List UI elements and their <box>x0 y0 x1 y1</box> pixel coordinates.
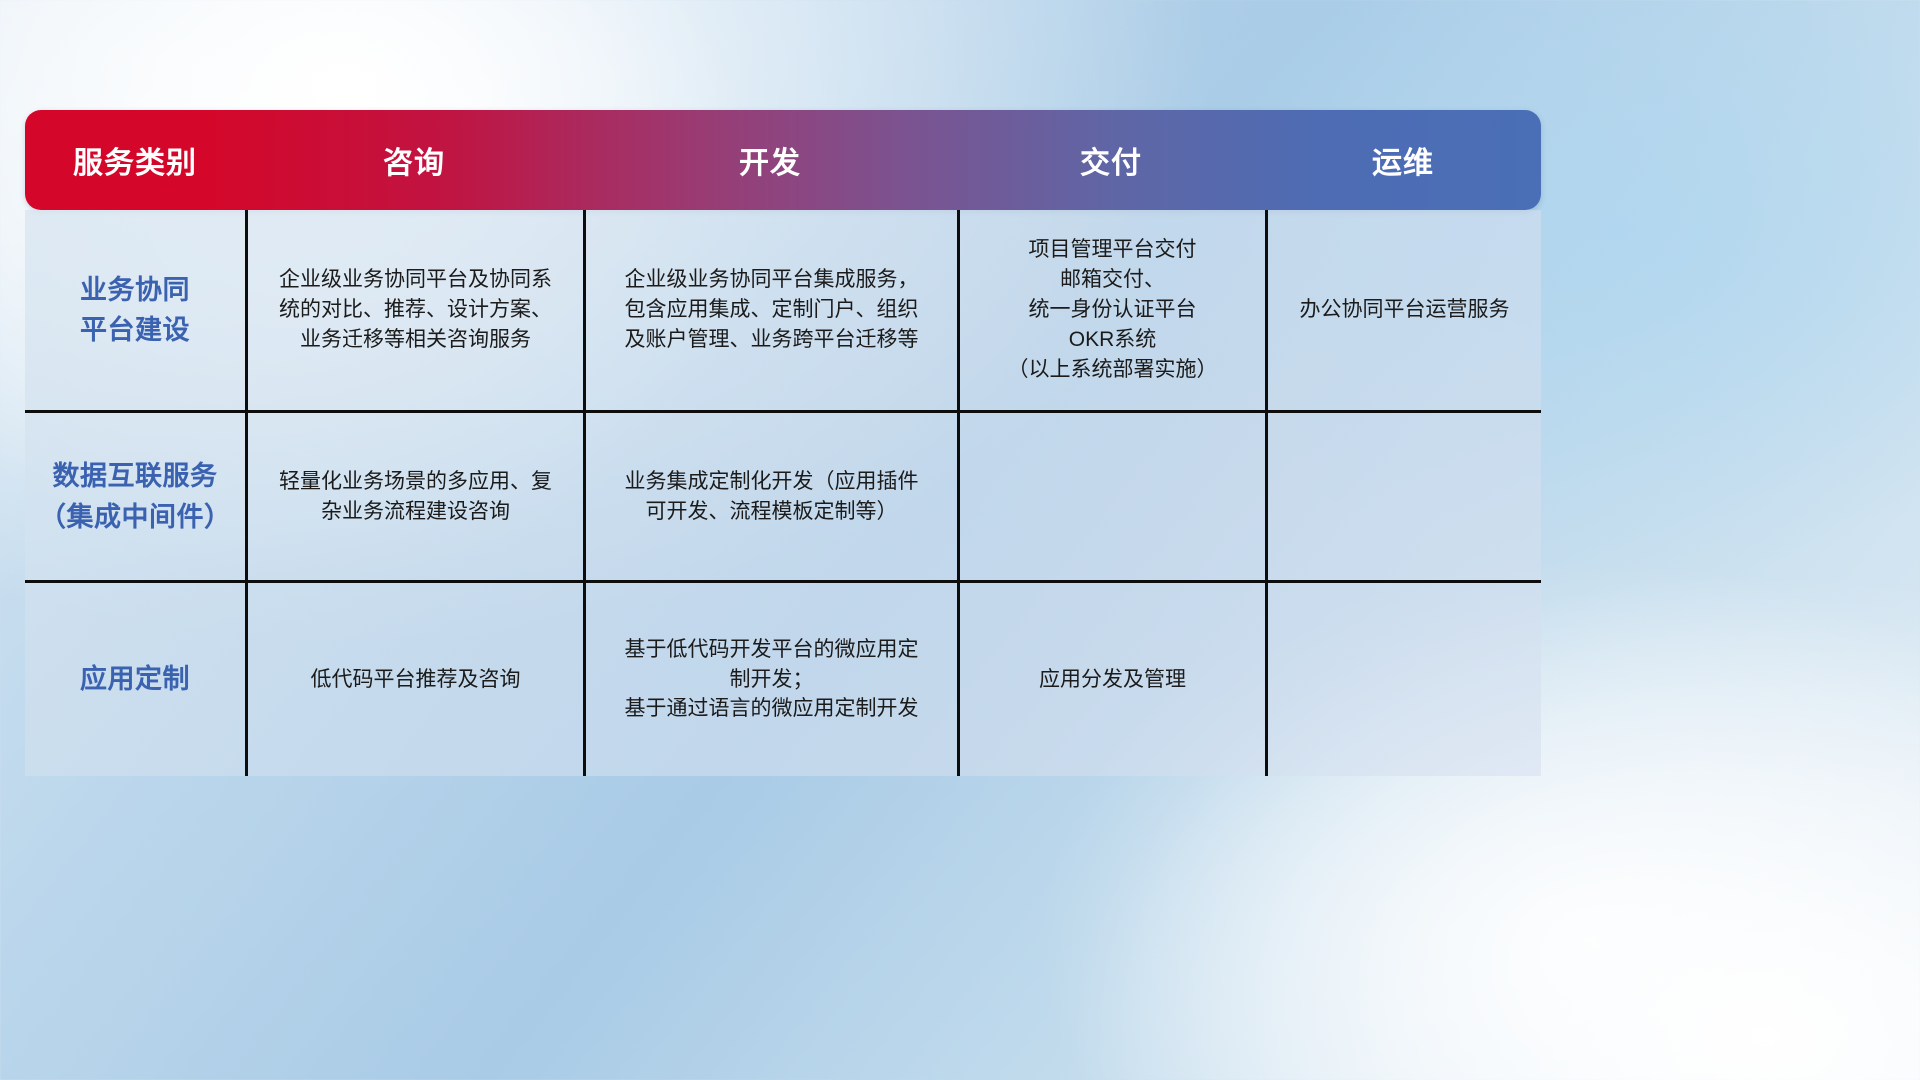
cell-consulting: 低代码平台推荐及咨询 <box>245 583 583 776</box>
cell-operations <box>1265 583 1541 776</box>
cell-development: 企业级业务协同平台集成服务， 包含应用集成、定制门户、组织 及账户管理、业务跨平… <box>583 210 957 410</box>
row-category-label: 数据互联服务 （集成中间件） <box>25 413 245 580</box>
cell-consulting: 企业级业务协同平台及协同系 统的对比、推荐、设计方案、 业务迁移等相关咨询服务 <box>245 210 583 410</box>
cell-consulting: 轻量化业务场景的多应用、复 杂业务流程建设咨询 <box>245 413 583 580</box>
row-category-label: 业务协同 平台建设 <box>25 210 245 410</box>
table-row: 业务协同 平台建设 企业级业务协同平台及协同系 统的对比、推荐、设计方案、 业务… <box>25 210 1541 410</box>
cell-development: 基于低代码开发平台的微应用定 制开发； 基于通过语言的微应用定制开发 <box>583 583 957 776</box>
cell-delivery: 应用分发及管理 <box>957 583 1265 776</box>
row-category-label: 应用定制 <box>25 583 245 776</box>
table-header-row: 服务类别 咨询 开发 交付 运维 <box>25 110 1541 210</box>
cell-delivery <box>957 413 1265 580</box>
cell-development: 业务集成定制化开发（应用插件 可开发、流程模板定制等） <box>583 413 957 580</box>
column-header-delivery: 交付 <box>957 110 1265 210</box>
cell-operations <box>1265 413 1541 580</box>
column-header-operations: 运维 <box>1265 110 1541 210</box>
service-matrix-table: 服务类别 咨询 开发 交付 运维 业务协同 平台建设 企业级业务协同平台及协同系… <box>25 110 1541 776</box>
column-header-development: 开发 <box>583 110 957 210</box>
column-header-consulting: 咨询 <box>245 110 583 210</box>
cell-delivery: 项目管理平台交付 邮箱交付、 统一身份认证平台 OKR系统 （以上系统部署实施） <box>957 210 1265 410</box>
cell-operations: 办公协同平台运营服务 <box>1265 210 1541 410</box>
table-row: 应用定制 低代码平台推荐及咨询 基于低代码开发平台的微应用定 制开发； 基于通过… <box>25 580 1541 776</box>
table-body: 业务协同 平台建设 企业级业务协同平台及协同系 统的对比、推荐、设计方案、 业务… <box>25 210 1541 776</box>
column-header-service-category: 服务类别 <box>25 110 245 210</box>
table-row: 数据互联服务 （集成中间件） 轻量化业务场景的多应用、复 杂业务流程建设咨询 业… <box>25 410 1541 580</box>
